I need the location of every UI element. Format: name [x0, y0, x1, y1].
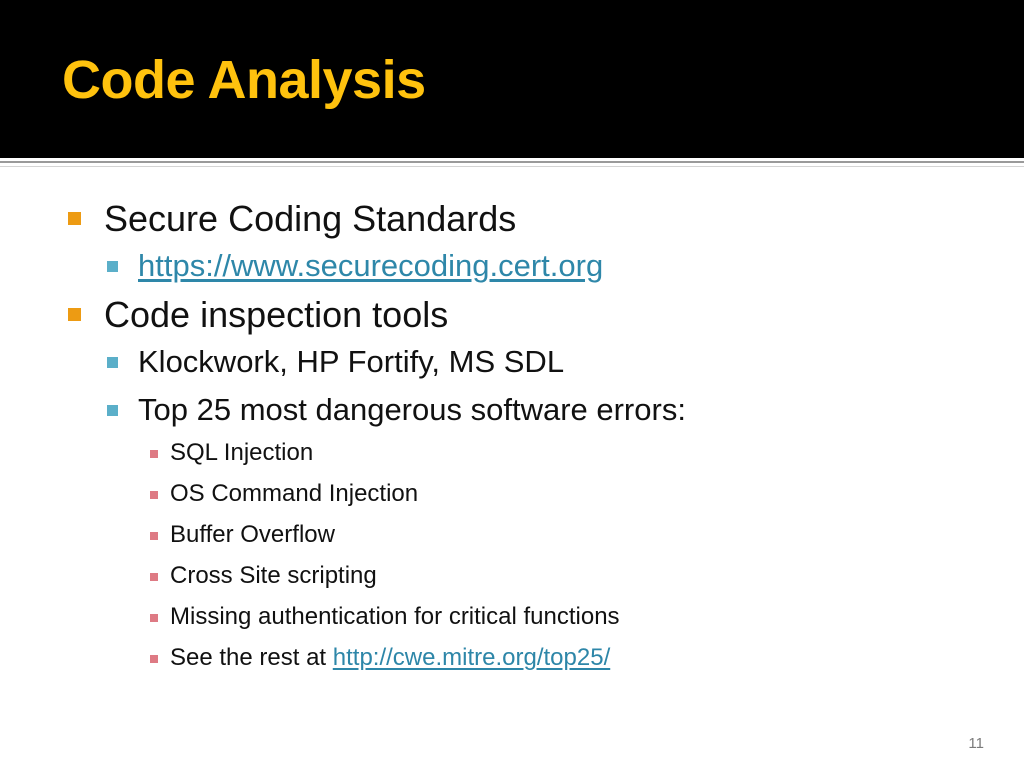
square-bullet-teal-icon [107, 357, 118, 368]
securecoding-link[interactable]: https://www.securecoding.cert.org [138, 248, 603, 283]
list-item: Top 25 most dangerous software errors: [0, 388, 1024, 436]
list-item-label: Cross Site scripting [170, 559, 377, 593]
list-item: SQL Injection [0, 436, 1024, 477]
title-divider-dark [0, 161, 1024, 163]
square-bullet-orange-icon [68, 212, 81, 225]
see-the-rest-text: See the rest at [170, 644, 333, 671]
square-bullet-pink-icon [150, 491, 158, 499]
list-item: Secure Coding Standards [0, 196, 1024, 244]
list-item: Missing authentication for critical func… [0, 600, 1024, 641]
list-item: OS Command Injection [0, 477, 1024, 518]
presentation-slide: Code Analysis Secure Coding Standards ht… [0, 0, 1024, 768]
list-item-label: Klockwork, HP Fortify, MS SDL [138, 340, 564, 384]
cwe-top25-link[interactable]: http://cwe.mitre.org/top25/ [333, 644, 610, 671]
slide-body: Secure Coding Standards https://www.secu… [0, 196, 1024, 682]
square-bullet-pink-icon [150, 573, 158, 581]
square-bullet-teal-icon [107, 261, 118, 272]
list-item-label: OS Command Injection [170, 477, 418, 511]
list-item: Cross Site scripting [0, 559, 1024, 600]
list-item-label: Secure Coding Standards [104, 196, 516, 242]
list-item: https://www.securecoding.cert.org [0, 244, 1024, 292]
page-title: Code Analysis [62, 52, 426, 109]
list-item: Buffer Overflow [0, 518, 1024, 559]
list-item-label: Buffer Overflow [170, 518, 335, 552]
square-bullet-pink-icon [150, 655, 158, 663]
page-number: 11 [968, 735, 984, 752]
square-bullet-pink-icon [150, 532, 158, 540]
list-item-label: See the rest at http://cwe.mitre.org/top… [170, 641, 610, 675]
list-item-label: SQL Injection [170, 436, 313, 470]
list-item: Code inspection tools [0, 292, 1024, 340]
square-bullet-pink-icon [150, 450, 158, 458]
square-bullet-orange-icon [68, 308, 81, 321]
square-bullet-pink-icon [150, 614, 158, 622]
list-item: See the rest at http://cwe.mitre.org/top… [0, 641, 1024, 682]
square-bullet-teal-icon [107, 405, 118, 416]
list-item-label: Code inspection tools [104, 292, 448, 338]
list-item: Klockwork, HP Fortify, MS SDL [0, 340, 1024, 388]
list-item-label: https://www.securecoding.cert.org [138, 244, 603, 288]
title-divider-light [0, 166, 1024, 167]
list-item-label: Top 25 most dangerous software errors: [138, 388, 686, 432]
list-item-label: Missing authentication for critical func… [170, 600, 620, 634]
